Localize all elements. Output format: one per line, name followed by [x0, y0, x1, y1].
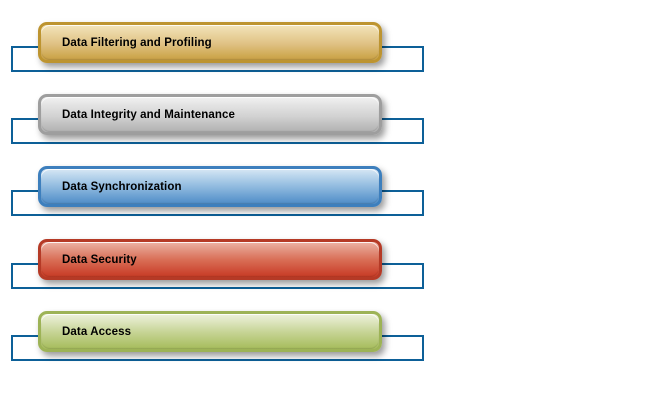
capsule-label: Data Integrity and Maintenance — [62, 109, 235, 121]
capsule-data-integrity-and-maintenance[interactable]: Data Integrity and Maintenance — [38, 94, 382, 135]
diagram-row[interactable]: Data Security — [0, 239, 666, 311]
capsule-label: Data Security — [62, 254, 137, 266]
diagram-row[interactable]: Data Integrity and Maintenance — [0, 94, 666, 166]
capsule-label: Data Synchronization — [62, 181, 182, 193]
capsule-list-diagram: Data Filtering and Profiling Data Integr… — [0, 0, 666, 410]
capsule-data-access[interactable]: Data Access — [38, 311, 382, 352]
capsule-data-filtering-and-profiling[interactable]: Data Filtering and Profiling — [38, 22, 382, 63]
capsule-data-synchronization[interactable]: Data Synchronization — [38, 166, 382, 207]
capsule-label: Data Filtering and Profiling — [62, 37, 212, 49]
capsule-data-security[interactable]: Data Security — [38, 239, 382, 280]
diagram-row[interactable]: Data Access — [0, 311, 666, 383]
diagram-row[interactable]: Data Filtering and Profiling — [0, 22, 666, 94]
capsule-label: Data Access — [62, 326, 131, 338]
diagram-row[interactable]: Data Synchronization — [0, 166, 666, 238]
